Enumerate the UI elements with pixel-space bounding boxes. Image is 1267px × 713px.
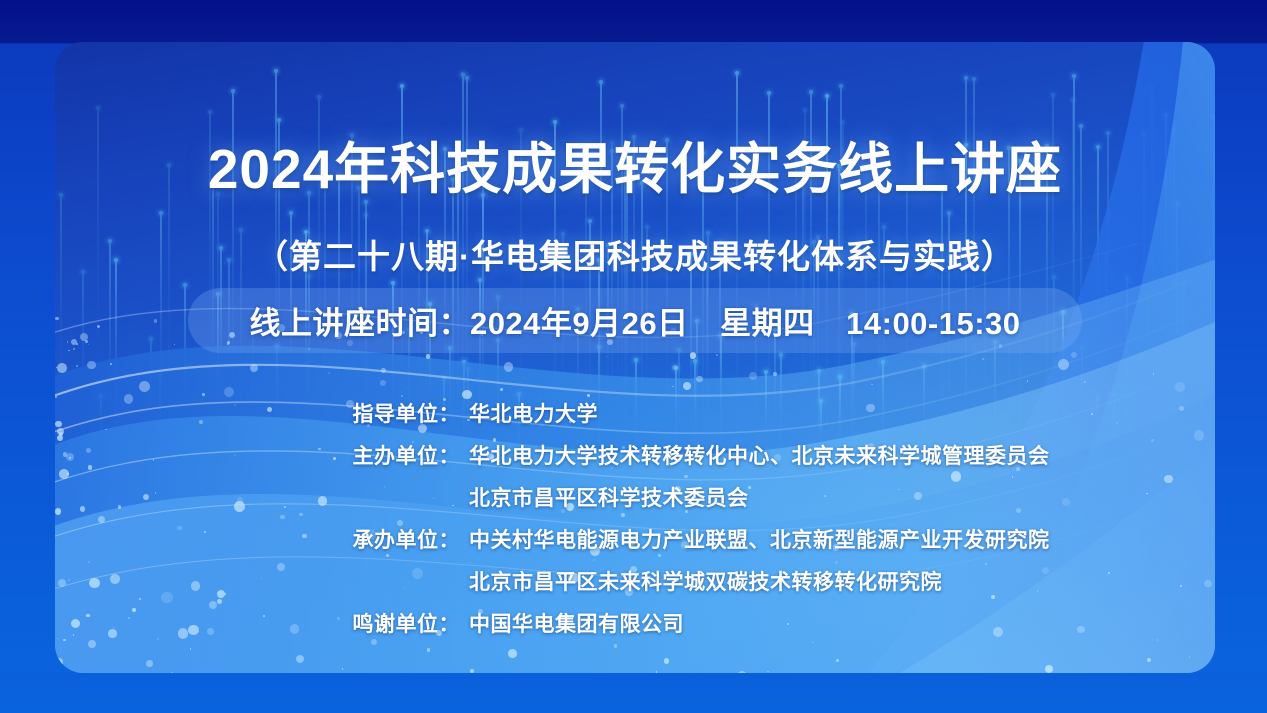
bokeh-dot xyxy=(328,372,330,374)
bokeh-dot xyxy=(683,382,691,390)
organization-label: 主办单位： xyxy=(55,440,460,470)
bokeh-dot xyxy=(380,380,387,387)
bokeh-dot xyxy=(664,658,670,664)
organization-row: 承办单位：中关村华电能源电力产业联盟、北京新型能源产业开发研究院 xyxy=(55,518,1215,560)
bokeh-dot xyxy=(1147,658,1151,662)
bokeh-dot xyxy=(1045,665,1053,673)
bokeh-dot xyxy=(737,671,747,673)
organization-label: 指导单位： xyxy=(55,398,460,428)
bokeh-dot xyxy=(1058,359,1069,370)
bokeh-dot xyxy=(146,660,152,666)
lecture-time-text: 线上讲座时间：2024年9月26日 星期四 14:00-15:30 xyxy=(249,298,1020,343)
bokeh-dot xyxy=(85,340,88,343)
bokeh-dot xyxy=(716,354,718,356)
bokeh-dot xyxy=(154,319,158,323)
organization-label: 承办单位： xyxy=(55,524,460,554)
organization-value: 华北电力大学 xyxy=(460,398,598,428)
bokeh-dot xyxy=(1153,373,1155,375)
organization-value: 北京市昌平区科学技术委员会 xyxy=(460,482,749,512)
bokeh-dot xyxy=(1071,352,1077,358)
bokeh-dot xyxy=(1084,381,1086,383)
bokeh-dot xyxy=(55,658,63,666)
organization-row: 北京市昌平区科学技术委员会 xyxy=(55,476,1215,518)
bokeh-dot xyxy=(672,365,677,370)
organization-row: 指导单位：华北电力大学 xyxy=(55,392,1215,434)
poster-panel: 2024年科技成果转化实务线上讲座 （第二十八期·华电集团科技成果转化体系与实践… xyxy=(55,42,1215,673)
bokeh-dot xyxy=(504,362,513,371)
outer-top-band xyxy=(0,0,1267,43)
bokeh-dot xyxy=(342,668,344,670)
bokeh-dot xyxy=(76,365,78,367)
organization-row: 北京市昌平区未来科学城双碳技术转移转化研究院 xyxy=(55,560,1215,602)
bokeh-dot xyxy=(250,364,258,372)
organization-value: 中国华电集团有限公司 xyxy=(460,608,684,638)
page-title: 2024年科技成果转化实务线上讲座 xyxy=(55,138,1215,200)
bokeh-dot xyxy=(67,341,69,343)
bokeh-dot xyxy=(68,350,70,352)
bokeh-dot xyxy=(73,348,75,350)
bokeh-dot xyxy=(871,384,873,386)
bokeh-dot xyxy=(110,363,112,365)
bokeh-dot xyxy=(57,363,67,373)
bokeh-dot xyxy=(97,325,100,328)
bokeh-dot xyxy=(296,655,305,664)
bokeh-dot xyxy=(406,388,408,390)
bokeh-dot xyxy=(80,333,88,341)
page-subtitle: （第二十八期·华电集团科技成果转化体系与实践） xyxy=(55,235,1215,279)
organization-row: 主办单位：华北电力大学技术转移转化中心、北京未来科学城管理委员会 xyxy=(55,434,1215,476)
outer-bottom-band xyxy=(0,672,1267,713)
bokeh-dot xyxy=(614,644,617,647)
organization-row: 鸣谢单位：中国华电集团有限公司 xyxy=(55,602,1215,644)
bokeh-dot xyxy=(836,659,839,662)
bokeh-dot xyxy=(139,381,150,392)
bokeh-dot xyxy=(55,317,59,321)
organization-label: 鸣谢单位： xyxy=(55,608,460,638)
bokeh-dot xyxy=(690,352,697,359)
bokeh-dot xyxy=(190,648,192,650)
bokeh-dot xyxy=(982,358,984,360)
bokeh-dot xyxy=(696,376,703,383)
bokeh-dot xyxy=(1189,656,1191,658)
poster-canvas: 2024年科技成果转化实务线上讲座 （第二十八期·华电集团科技成果转化体系与实践… xyxy=(0,0,1267,713)
bokeh-dot xyxy=(1175,382,1185,392)
bokeh-dot xyxy=(174,344,176,346)
bokeh-dot xyxy=(427,648,431,652)
bokeh-dot xyxy=(508,649,517,658)
bokeh-dot xyxy=(606,356,608,358)
bokeh-dot xyxy=(773,372,777,376)
bokeh-dot xyxy=(672,386,674,388)
bokeh-dot xyxy=(1027,380,1029,382)
organizations-block: 指导单位：华北电力大学主办单位：华北电力大学技术转移转化中心、北京未来科学城管理… xyxy=(55,392,1215,644)
organization-value: 华北电力大学技术转移转化中心、北京未来科学城管理委员会 xyxy=(460,440,1050,470)
bokeh-dot xyxy=(88,344,90,346)
bokeh-dot xyxy=(381,368,387,374)
bokeh-dot xyxy=(87,361,96,370)
organization-value: 中关村华电能源电力产业联盟、北京新型能源产业开发研究院 xyxy=(460,524,1050,554)
organization-value: 北京市昌平区未来科学城双碳技术转移转化研究院 xyxy=(460,566,942,596)
bokeh-dot xyxy=(470,669,475,673)
bokeh-dot xyxy=(426,354,431,359)
bokeh-dot xyxy=(767,671,769,673)
bokeh-dot xyxy=(171,672,173,673)
lecture-time-banner: 线上讲座时间：2024年9月26日 星期四 14:00-15:30 xyxy=(188,288,1082,353)
bokeh-dot xyxy=(749,372,757,380)
bokeh-dot xyxy=(500,388,503,391)
bokeh-dot xyxy=(656,671,658,673)
